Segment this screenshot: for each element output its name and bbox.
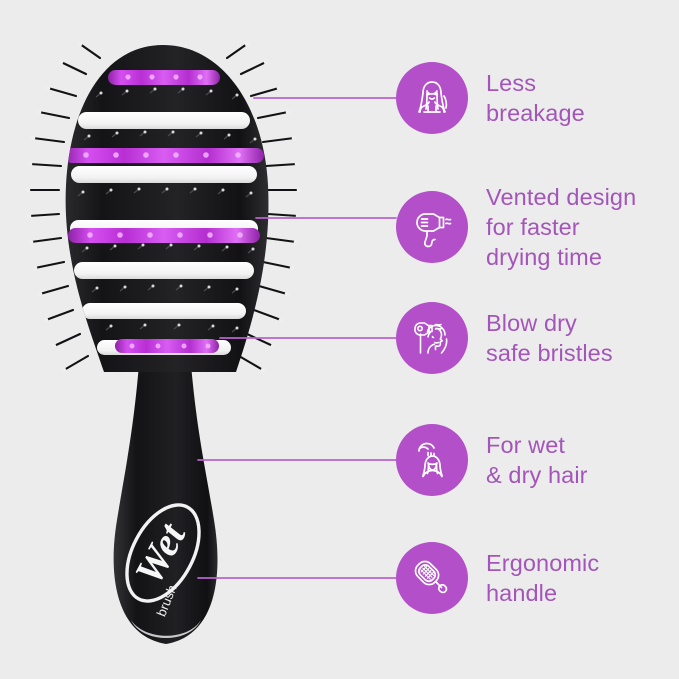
feature-label: For wet & dry hair bbox=[486, 430, 588, 490]
feature-item-blow-dry-safe-bristles[interactable]: Blow dry safe bristles bbox=[396, 302, 613, 374]
hair-dryer-face-icon bbox=[396, 302, 468, 374]
feature-label: Vented design for faster drying time bbox=[486, 182, 636, 272]
feature-item-vented-design[interactable]: Vented design for faster drying time bbox=[396, 182, 636, 272]
feature-item-for-wet-and-dry-hair[interactable]: For wet & dry hair bbox=[396, 424, 588, 496]
paddle-brush-icon bbox=[396, 542, 468, 614]
feature-list: Less breakage Vented design for faster d… bbox=[0, 0, 679, 679]
feature-label: Ergonomic handle bbox=[486, 548, 599, 608]
hair-dryer-icon bbox=[396, 191, 468, 263]
woman-long-hair-icon bbox=[396, 62, 468, 134]
shower-head-woman-icon bbox=[396, 424, 468, 496]
feature-item-less-breakage[interactable]: Less breakage bbox=[396, 62, 585, 134]
feature-item-ergonomic-handle[interactable]: Ergonomic handle bbox=[396, 542, 599, 614]
feature-label: Less breakage bbox=[486, 68, 585, 128]
infographic-canvas: Wet brush bbox=[0, 0, 679, 679]
feature-label: Blow dry safe bristles bbox=[486, 308, 613, 368]
